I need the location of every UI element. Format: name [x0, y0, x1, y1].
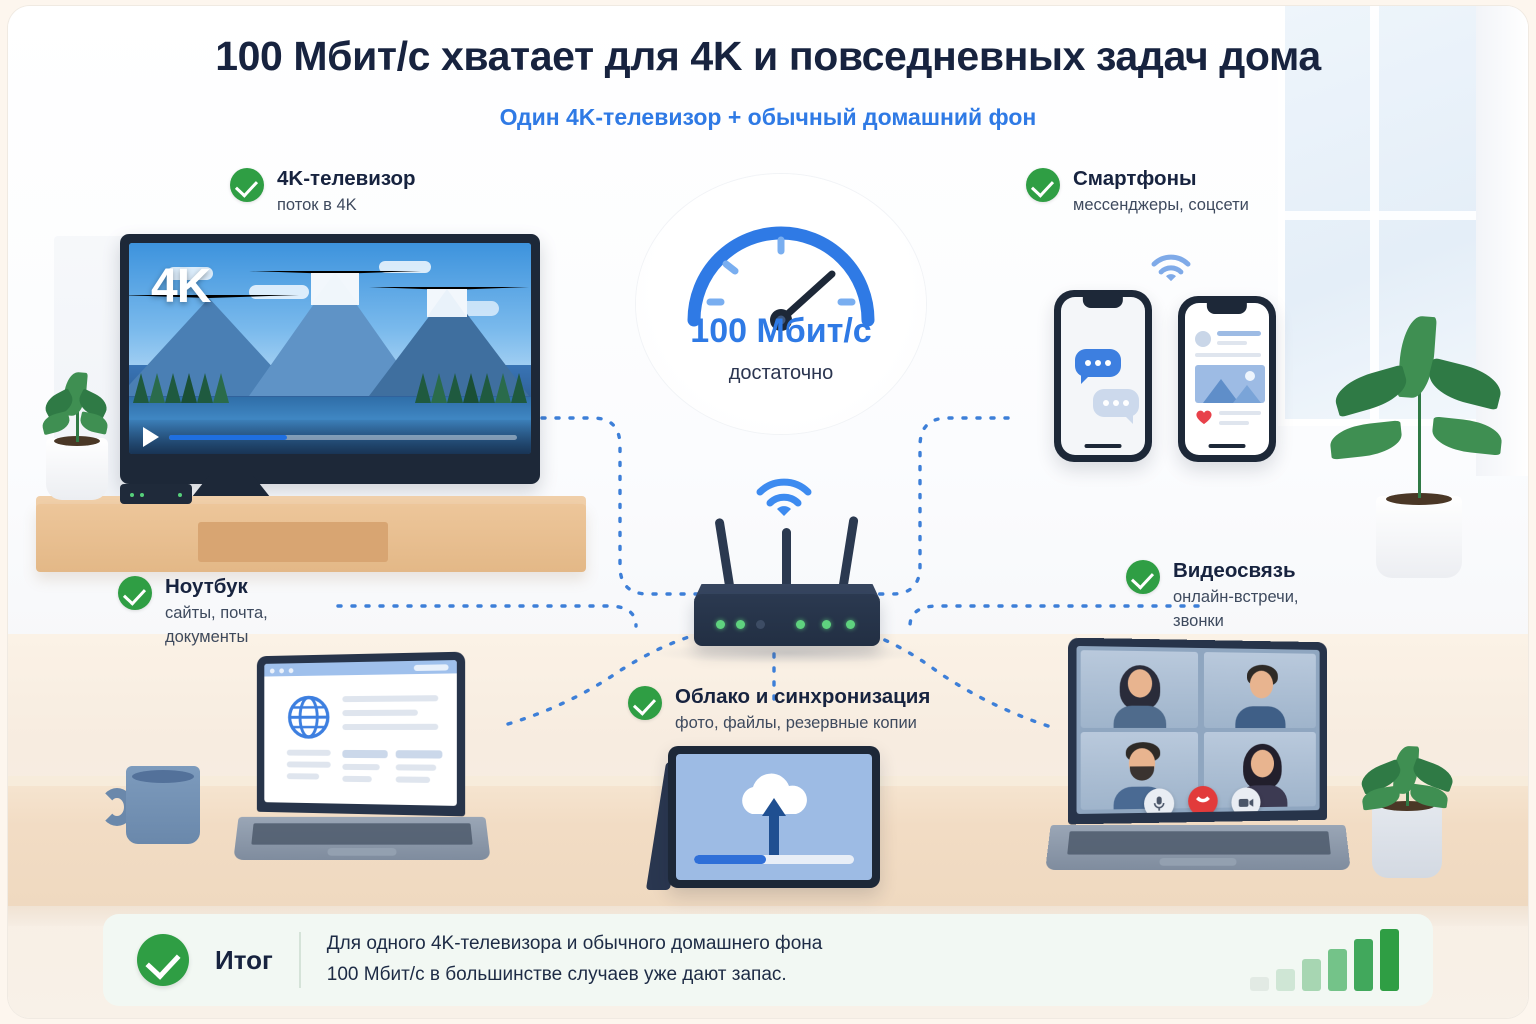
- wifi-icon: [1148, 250, 1194, 284]
- plant-pot: [1376, 496, 1462, 578]
- skeleton-line: [1195, 353, 1261, 357]
- gauge-caption: достаточно: [636, 362, 926, 385]
- heart-icon: [1195, 409, 1213, 425]
- signal-strength-bars: [1250, 929, 1399, 991]
- coffee-mug: [126, 766, 200, 844]
- check-circle-icon: [118, 576, 152, 610]
- summary-label: Итог: [215, 945, 273, 976]
- plant-pot: [46, 438, 108, 500]
- phone-home-indicator: [1085, 444, 1122, 448]
- play-icon[interactable]: [143, 427, 159, 447]
- summary-line-1: Для одного 4K-телевизора и обычного дома…: [327, 929, 823, 960]
- feature-title: 4K-телевизор: [277, 166, 416, 192]
- skeleton-line: [1217, 341, 1247, 345]
- skeleton-line: [1219, 411, 1261, 415]
- laptop-lid: [257, 652, 465, 817]
- summary-bar: Итог Для одного 4K-телевизора и обычного…: [103, 914, 1433, 1006]
- camera-button[interactable]: [1231, 787, 1260, 814]
- feature-cloud: Облако и синхронизация фото, файлы, резе…: [628, 684, 930, 734]
- skeleton-line: [1217, 331, 1261, 336]
- page-subtitle: Один 4K-телевизор + обычный домашний фон: [8, 104, 1528, 131]
- phone-home-indicator: [1209, 444, 1246, 448]
- phone-screen: [1185, 303, 1269, 455]
- feature-tv: 4K-телевизор поток в 4K: [230, 166, 416, 216]
- avatar: [1195, 331, 1211, 347]
- check-circle-icon: [1026, 168, 1060, 202]
- chat-bubble-icon: [1093, 389, 1139, 417]
- video-participant: [1204, 732, 1316, 808]
- video-participant: [1204, 652, 1316, 728]
- plant-pot: [1372, 804, 1442, 878]
- snowcap: [427, 289, 467, 317]
- feature-subtitle-line2: звонки: [1173, 611, 1299, 632]
- television: 4K: [120, 234, 540, 484]
- laptop-lid: [1068, 638, 1327, 825]
- router-antenna: [782, 528, 791, 590]
- globe-icon: [287, 694, 331, 740]
- signal-bar: [1354, 939, 1373, 991]
- feature-subtitle: мессенджеры, соцсети: [1073, 195, 1249, 216]
- laptop-screen: [1077, 646, 1320, 814]
- signal-bar: [1250, 977, 1269, 991]
- upload-arrow-icon: [760, 796, 788, 858]
- feature-subtitle-line1: онлайн-встречи,: [1173, 587, 1299, 608]
- snowcap: [311, 273, 359, 305]
- mug-interior: [132, 770, 194, 783]
- chat-bubble-icon: [1075, 349, 1121, 377]
- phone-notch: [1207, 303, 1247, 314]
- laptop-base: [1045, 825, 1351, 870]
- smartphone-chat: [1054, 290, 1152, 462]
- laptop-base: [233, 817, 490, 860]
- feature-phones: Смартфоны мессенджеры, соцсети: [1026, 166, 1249, 216]
- signal-bar: [1380, 929, 1399, 991]
- upload-progress-fill: [694, 855, 766, 864]
- summary-line-2: 100 Мбит/с в большинстве случаев уже даю…: [327, 960, 823, 991]
- check-circle-icon: [137, 934, 189, 986]
- gauge-value: 100 Мбит/с: [636, 312, 926, 351]
- skeleton-line: [1219, 421, 1249, 425]
- feature-title: Облако и синхронизация: [675, 684, 930, 710]
- tablet-cloud-sync: [668, 746, 880, 888]
- summary-text: Для одного 4K-телевизора и обычного дома…: [327, 929, 823, 991]
- tv-forest: [129, 332, 531, 404]
- signal-bar: [1328, 949, 1347, 991]
- phone-notch: [1083, 297, 1123, 308]
- feature-title: Видеосвязь: [1173, 558, 1299, 584]
- laptop-screen: [264, 660, 457, 806]
- feature-video: Видеосвязь онлайн-встречи, звонки: [1126, 558, 1299, 631]
- set-top-box: [120, 484, 192, 504]
- feature-subtitle-line2: документы: [165, 627, 268, 648]
- router: [694, 594, 880, 646]
- tablet-screen: [676, 754, 872, 880]
- signal-bar: [1302, 959, 1321, 991]
- smartphone-feed: [1178, 296, 1276, 462]
- tv-playback-bar[interactable]: [129, 420, 531, 454]
- summary-divider: [299, 932, 301, 988]
- check-circle-icon: [1126, 560, 1160, 594]
- video-participant: [1081, 650, 1198, 728]
- browser-chrome: [264, 660, 457, 677]
- infographic-card: 100 Мбит/с хватает для 4K и повседневных…: [8, 6, 1528, 1018]
- progress-track[interactable]: [169, 435, 517, 440]
- feature-subtitle: фото, файлы, резервные копии: [675, 713, 930, 734]
- feature-title: Ноутбук: [165, 574, 268, 600]
- hangup-button[interactable]: [1188, 786, 1218, 814]
- feature-subtitle-line1: сайты, почта,: [165, 603, 268, 624]
- progress-fill: [169, 435, 287, 440]
- microphone-button[interactable]: [1144, 788, 1174, 814]
- feature-subtitle: поток в 4K: [277, 195, 416, 216]
- tv-screen: 4K: [129, 243, 531, 454]
- page-title: 100 Мбит/с хватает для 4K и повседневных…: [8, 33, 1528, 80]
- speed-gauge: 100 Мбит/с достаточно: [636, 174, 926, 434]
- infographic-root: 100 Мбит/с хватает для 4K и повседневных…: [0, 0, 1536, 1024]
- feature-laptop: Ноутбук сайты, почта, документы: [118, 574, 268, 647]
- video-participant: [1081, 732, 1198, 810]
- tv-console-shelf: [198, 522, 388, 562]
- feature-title: Смартфоны: [1073, 166, 1249, 192]
- upload-progress-track: [694, 855, 854, 864]
- wifi-icon: [752, 472, 816, 520]
- check-circle-icon: [628, 686, 662, 720]
- tv-4k-badge: 4K: [151, 259, 210, 314]
- feed-image: [1195, 365, 1265, 403]
- signal-bar: [1276, 969, 1295, 991]
- check-circle-icon: [230, 168, 264, 202]
- phone-screen: [1061, 297, 1145, 455]
- address-bar[interactable]: [414, 664, 449, 671]
